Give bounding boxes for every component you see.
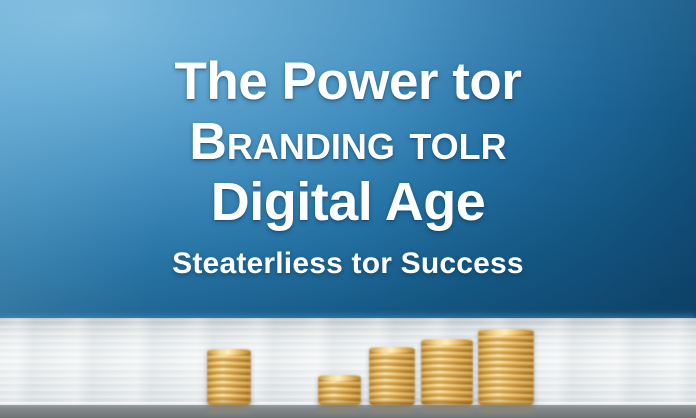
coin-stack-2 <box>318 375 361 405</box>
coin-stacks-group <box>0 288 696 418</box>
coin-stack-4 <box>421 339 473 405</box>
banner-image: The Power tor Branding tolr Digital Age … <box>0 0 696 418</box>
coin-stack-1 <box>207 349 251 405</box>
coin-stack-3 <box>369 347 415 405</box>
coin-stack-5 <box>478 329 534 405</box>
